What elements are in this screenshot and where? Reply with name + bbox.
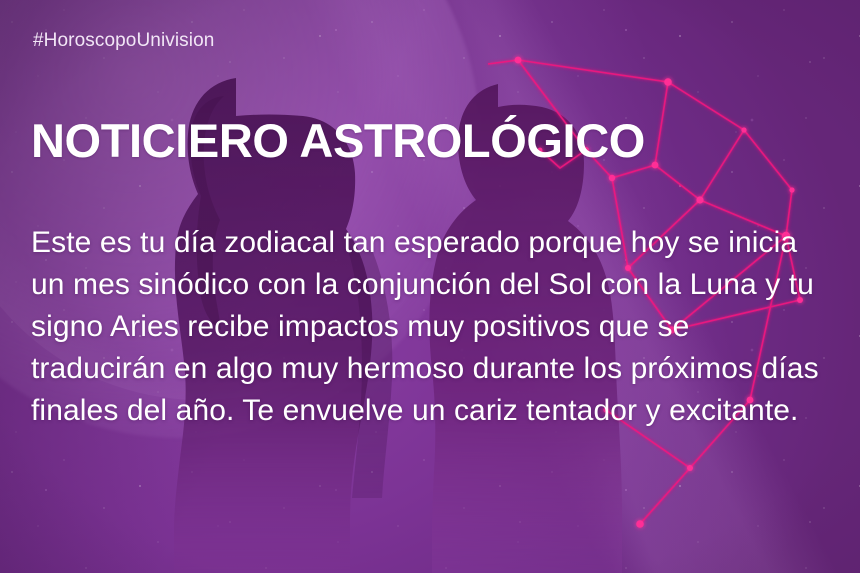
page-title: NOTICIERO ASTROLÓGICO xyxy=(31,115,645,167)
text-content: #HoroscopoUnivision NOTICIERO ASTROLÓGIC… xyxy=(0,0,860,573)
horoscope-card: #HoroscopoUnivision NOTICIERO ASTROLÓGIC… xyxy=(0,0,860,573)
hashtag-label: #HoroscopoUnivision xyxy=(33,30,214,52)
horoscope-body-text: Este es tu día zodiacal tan esperado por… xyxy=(31,222,821,432)
